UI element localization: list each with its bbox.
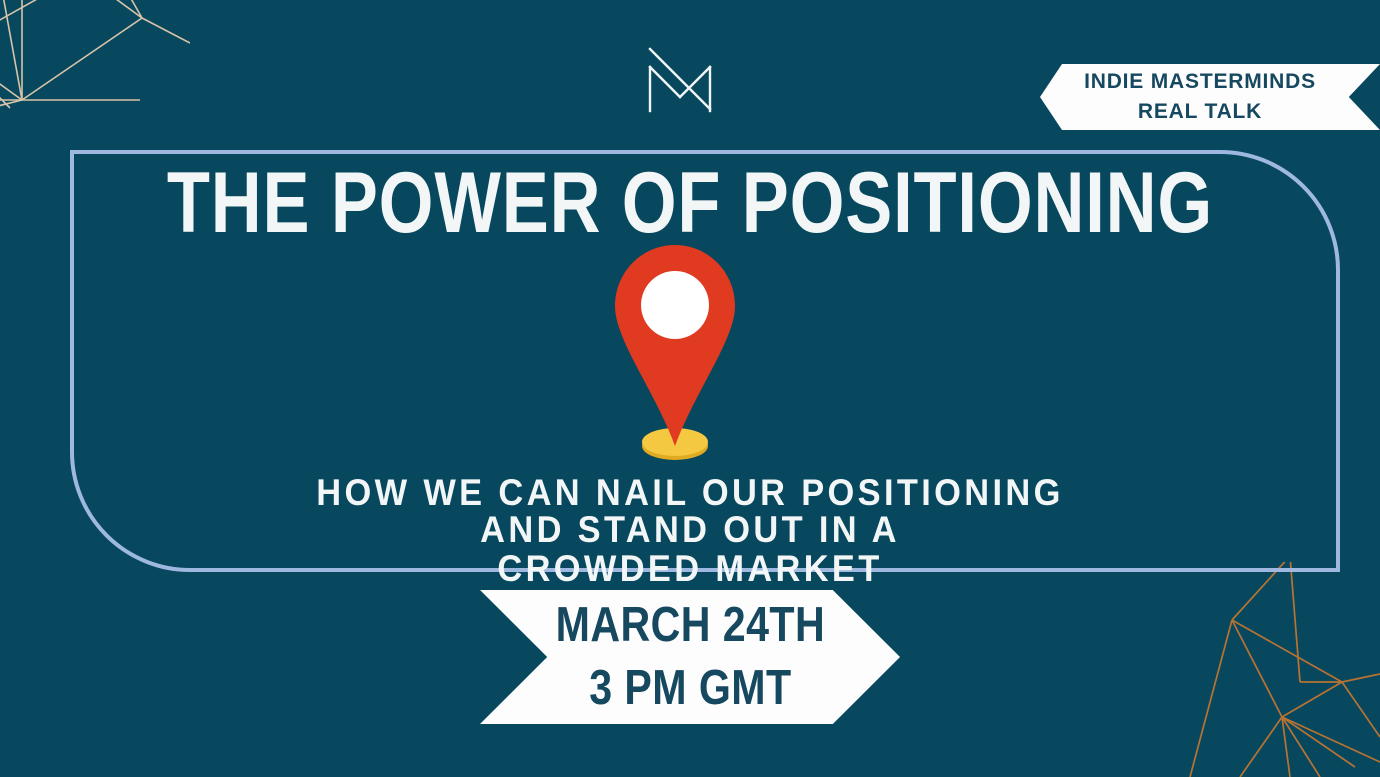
webinar-announcement-poster: M INDIE MASTERMINDS REAL TALK THE POWER … [0, 0, 1380, 777]
event-time: 3 PM GMT [589, 657, 791, 720]
page-subtitle: HOW WE CAN NAIL OUR POSITIONING AND STAN… [272, 474, 1109, 587]
subtitle-line-1: HOW WE CAN NAIL OUR POSITIONING AND STAN… [316, 472, 1063, 550]
page-title: THE POWER OF POSITIONING [124, 160, 1256, 246]
event-date: MARCH 24TH [555, 594, 824, 657]
ribbon-line-2: REAL TALK [1138, 97, 1262, 127]
geometric-decoration-top-left [0, 0, 190, 158]
monogram-m-logo: M [640, 45, 720, 113]
podcast-name-ribbon: INDIE MASTERMINDS REAL TALK [1040, 64, 1380, 130]
geometric-decoration-bottom-right [1170, 562, 1380, 777]
location-pin-icon [611, 243, 739, 463]
event-date-banner: MARCH 24TH 3 PM GMT [480, 590, 900, 724]
subtitle-line-2: CROWDED MARKET [272, 550, 1109, 587]
ribbon-line-1: INDIE MASTERMINDS [1084, 67, 1316, 97]
